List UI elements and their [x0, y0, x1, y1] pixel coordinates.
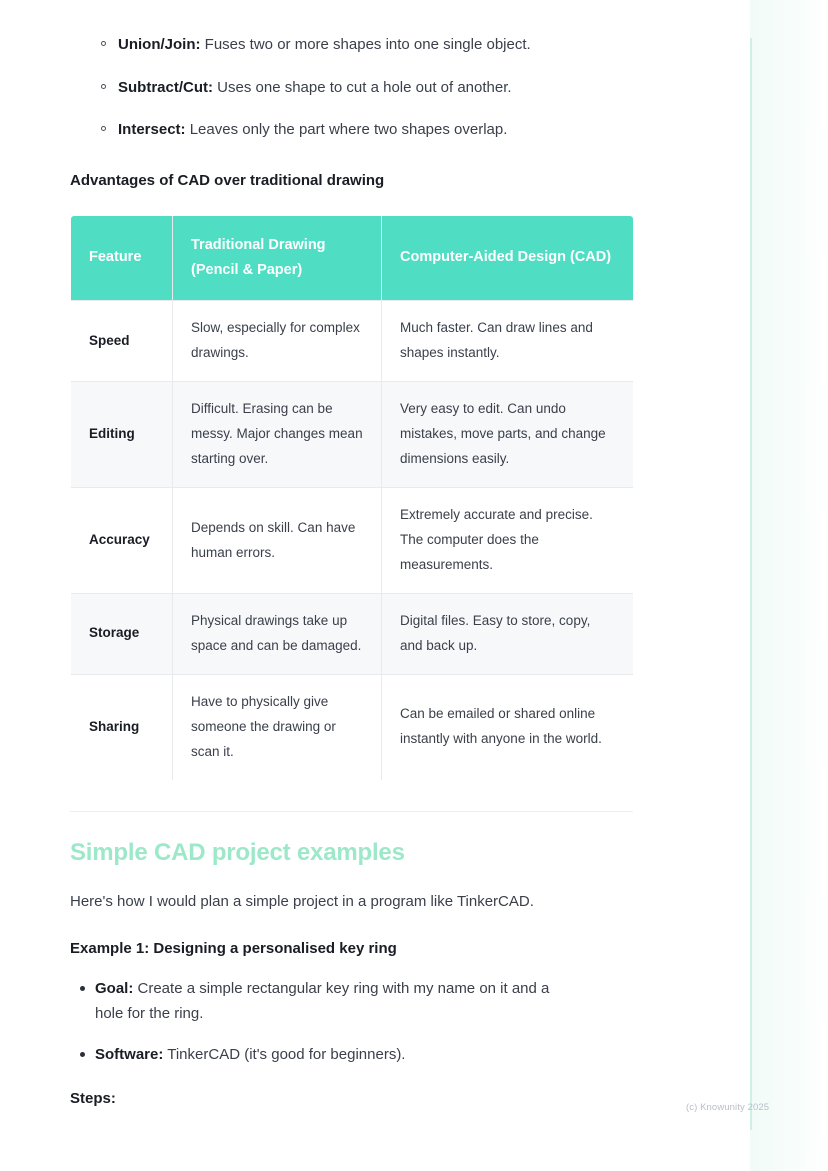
table-header-row: Feature Traditional Drawing (Pencil & Pa…	[71, 215, 634, 301]
document-page: Union/Join: Fuses two or more shapes int…	[0, 0, 720, 1107]
list-item-text: Leaves only the part where two shapes ov…	[186, 121, 508, 138]
comparison-table-wrapper: Feature Traditional Drawing (Pencil & Pa…	[70, 215, 633, 781]
list-item: Intersect: Leaves only the part where tw…	[0, 119, 720, 142]
list-item-term: Subtract/Cut:	[118, 79, 213, 96]
list-item-text: Fuses two or more shapes into one single…	[201, 36, 531, 53]
list-item-text: Create a simple rectangular key ring wit…	[95, 980, 549, 1021]
example-1-heading: Example 1: Designing a personalised key …	[70, 940, 720, 957]
row-traditional: Difficult. Erasing can be messy. Major c…	[173, 382, 382, 488]
list-item-text: Uses one shape to cut a hole out of anot…	[213, 79, 512, 96]
table-row: Accuracy Depends on skill. Can have huma…	[71, 488, 634, 594]
row-traditional: Slow, especially for complex drawings.	[173, 301, 382, 382]
row-cad: Much faster. Can draw lines and shapes i…	[382, 301, 634, 382]
footer-copyright: (c) Knowunity 2025	[686, 1102, 769, 1113]
list-item-text: TinkerCAD (it's good for beginners).	[163, 1046, 405, 1063]
list-item: Software: TinkerCAD (it's good for begin…	[0, 1043, 720, 1067]
row-traditional: Have to physically give someone the draw…	[173, 674, 382, 780]
row-cad: Digital files. Easy to store, copy, and …	[382, 594, 634, 675]
table-header: Feature Traditional Drawing (Pencil & Pa…	[71, 215, 634, 301]
row-feature: Speed	[71, 301, 173, 382]
row-cad: Extremely accurate and precise. The comp…	[382, 488, 634, 594]
row-cad: Can be emailed or shared online instantl…	[382, 674, 634, 780]
list-item: Union/Join: Fuses two or more shapes int…	[0, 34, 720, 57]
steps-label: Steps:	[70, 1090, 720, 1107]
advantages-heading: Advantages of CAD over traditional drawi…	[70, 172, 720, 189]
table-row: Sharing Have to physically give someone …	[71, 674, 634, 780]
column-header-cad: Computer-Aided Design (CAD)	[382, 215, 634, 301]
table-row: Editing Difficult. Erasing can be messy.…	[71, 382, 634, 488]
intro-paragraph: Here's how I would plan a simple project…	[70, 891, 650, 914]
row-feature: Accuracy	[71, 488, 173, 594]
table-row: Storage Physical drawings take up space …	[71, 594, 634, 675]
list-item-term: Software:	[95, 1046, 163, 1063]
row-feature: Editing	[71, 382, 173, 488]
column-header-traditional: Traditional Drawing (Pencil & Paper)	[173, 215, 382, 301]
column-header-feature: Feature	[71, 215, 173, 301]
section-heading-simple-cad-examples: Simple CAD project examples	[70, 839, 720, 867]
list-item: Goal: Create a simple rectangular key ri…	[0, 977, 720, 1026]
list-item-term: Intersect:	[118, 121, 186, 138]
row-cad: Very easy to edit. Can undo mistakes, mo…	[382, 382, 634, 488]
list-item-term: Goal:	[95, 980, 133, 997]
boolean-operations-list: Union/Join: Fuses two or more shapes int…	[0, 34, 720, 142]
row-traditional: Depends on skill. Can have human errors.	[173, 488, 382, 594]
row-feature: Storage	[71, 594, 173, 675]
table-body: Speed Slow, especially for complex drawi…	[71, 301, 634, 781]
table-row: Speed Slow, especially for complex drawi…	[71, 301, 634, 382]
right-side-rail	[750, 0, 828, 1171]
cad-comparison-table: Feature Traditional Drawing (Pencil & Pa…	[70, 215, 634, 781]
row-traditional: Physical drawings take up space and can …	[173, 594, 382, 675]
row-feature: Sharing	[71, 674, 173, 780]
list-item: Subtract/Cut: Uses one shape to cut a ho…	[0, 77, 720, 100]
list-item-term: Union/Join:	[118, 36, 201, 53]
rail-divider-line	[750, 38, 752, 1130]
example-1-bullets: Goal: Create a simple rectangular key ri…	[0, 977, 720, 1067]
section-divider	[70, 811, 633, 812]
